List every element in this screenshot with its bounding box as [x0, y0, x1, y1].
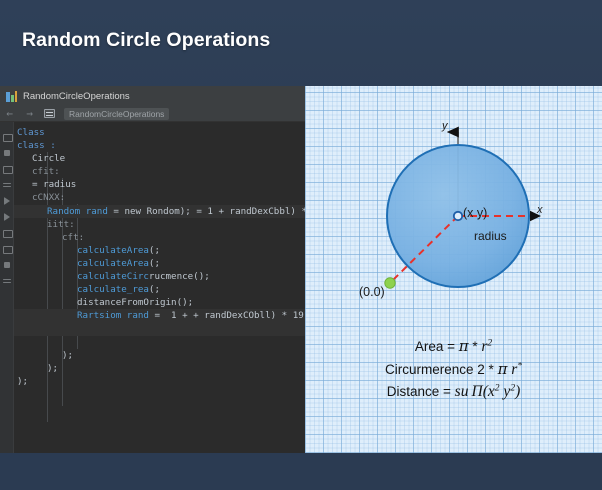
step-icon[interactable]: [2, 228, 12, 238]
code-token: (;: [149, 245, 160, 256]
formula-area-mid: *: [469, 339, 482, 354]
code-token: class :: [17, 140, 56, 151]
folder-icon[interactable]: [2, 148, 12, 158]
code-line[interactable]: calculateArea(;: [14, 257, 305, 270]
radius-label: radius: [474, 229, 507, 243]
code-token: Random rand: [47, 206, 108, 217]
code-line[interactable]: Class: [14, 126, 305, 139]
arrow-left-icon[interactable]: ←: [4, 108, 15, 119]
run-icon[interactable]: [2, 196, 12, 206]
center-coordinate-label: (x y): [463, 206, 487, 220]
breadcrumb-path[interactable]: RandomCircleOperations: [64, 108, 169, 120]
ide-logo-icon: [6, 91, 17, 102]
formula-area-prefix: Area =: [415, 339, 459, 354]
code-token: calculateArea: [77, 245, 149, 256]
code-line[interactable]: Random rand = new Rondom); = 1 + randDex…: [14, 205, 305, 218]
code-token: );: [47, 363, 58, 374]
code-token: [77, 323, 83, 334]
code-line[interactable]: = radius: [14, 178, 305, 191]
code-token: distanceFrom: [77, 297, 143, 308]
code-token: Class: [17, 127, 45, 138]
formula-distance: Distance = su Π(x2 y2): [305, 383, 602, 401]
circle-diagram-panel: y x (x y) radius (0.0) Area = π * r2 Cir…: [305, 86, 602, 453]
stop-icon[interactable]: [2, 260, 12, 270]
list-icon[interactable]: [2, 276, 12, 286]
code-text-area[interactable]: Classclass :Circlecfit:= radiuscCNXX:Ran…: [14, 122, 305, 453]
code-line[interactable]: );: [14, 362, 305, 375]
code-token: = 1 + + randDexCObll) * 19;: [149, 310, 305, 321]
pi-symbol: π: [498, 360, 508, 378]
code-token: iitt:: [47, 219, 75, 230]
code-token: Rartsiom rand: [77, 310, 149, 321]
code-line[interactable]: Circle: [14, 152, 305, 165]
code-line[interactable]: distanceFromOrigin();: [14, 296, 305, 309]
formula-circ-exponent: *: [517, 362, 522, 372]
formula-dist-prefix: Distance =: [387, 384, 455, 399]
code-token: calculateArea: [77, 258, 149, 269]
slide-footer: [0, 453, 602, 490]
code-token: = radius: [32, 179, 76, 190]
code-editor-panel: RandomCircleOperations ← → RandomCircleO…: [0, 86, 305, 453]
formula-dist-var: su Π(x: [455, 383, 495, 400]
code-line[interactable]: class :: [14, 139, 305, 152]
code-token: cfit:: [32, 166, 60, 177]
y-axis-label: y: [442, 120, 448, 132]
formula-area: Area = π * r2: [305, 337, 602, 356]
code-line[interactable]: );: [14, 349, 305, 362]
formula-circ-prefix: Circurmerence 2 *: [385, 362, 498, 377]
x-axis-label: x: [537, 204, 543, 216]
code-token: (;: [149, 284, 160, 295]
code-token: );: [17, 376, 28, 387]
play-icon[interactable]: [2, 212, 12, 222]
code-token: calculate_rea: [77, 284, 149, 295]
editor-toolbar-gutter[interactable]: [0, 122, 14, 453]
file-icon: [44, 109, 55, 118]
code-token: calculateCirc: [77, 271, 149, 282]
code-line[interactable]: calculateCircrucmence();: [14, 270, 305, 283]
code-token: Origin();: [143, 297, 193, 308]
formula-area-exponent: 2: [487, 339, 492, 349]
code-token: Circle: [32, 153, 65, 164]
code-token: (;: [149, 258, 160, 269]
code-line[interactable]: cCNXX:: [14, 191, 305, 204]
formula-circumference: Circurmerence 2 * π r*: [305, 360, 602, 379]
code-token: );: [62, 350, 73, 361]
code-line[interactable]: [14, 336, 305, 349]
code-line[interactable]: [14, 322, 305, 335]
code-token: [17, 337, 23, 348]
bug-icon[interactable]: [2, 180, 12, 190]
wrench-icon[interactable]: [2, 132, 12, 142]
editor-titlebar: RandomCircleOperations: [0, 86, 305, 106]
editor-window-title: RandomCircleOperations: [23, 91, 130, 102]
code-line[interactable]: cft:: [14, 231, 305, 244]
center-point: [454, 212, 462, 220]
slide-header: Random Circle Operations: [0, 0, 602, 86]
breadcrumb: ← → RandomCircleOperations: [0, 106, 305, 122]
code-line[interactable]: iitt:: [14, 218, 305, 231]
origin-coordinate-label: (0.0): [359, 285, 385, 299]
arrow-right-icon[interactable]: →: [24, 108, 35, 119]
code-token: = new Rondom); = 1 + randDexCbbl) * 19;: [108, 206, 305, 217]
hammer-icon[interactable]: [2, 164, 12, 174]
code-line[interactable]: calculateArea(;: [14, 244, 305, 257]
code-token: cCNXX:: [32, 192, 65, 203]
page-title: Random Circle Operations: [22, 29, 270, 52]
formula-dist-close: ): [515, 383, 520, 400]
pi-symbol: π: [459, 337, 469, 355]
formula-dist-suffix: y: [500, 383, 511, 400]
arrow-up-icon[interactable]: [2, 244, 12, 254]
code-line[interactable]: cfit:: [14, 165, 305, 178]
code-token: rucmence();: [149, 271, 210, 282]
code-token: cft:: [62, 232, 84, 243]
slide-root: Random Circle Operations RandomCircleOpe…: [0, 0, 602, 490]
code-line[interactable]: Rartsiom rand = 1 + + randDexCObll) * 19…: [14, 309, 305, 322]
origin-dot: [385, 278, 395, 288]
code-line[interactable]: );: [14, 375, 305, 388]
code-line[interactable]: calculate_rea(;: [14, 283, 305, 296]
